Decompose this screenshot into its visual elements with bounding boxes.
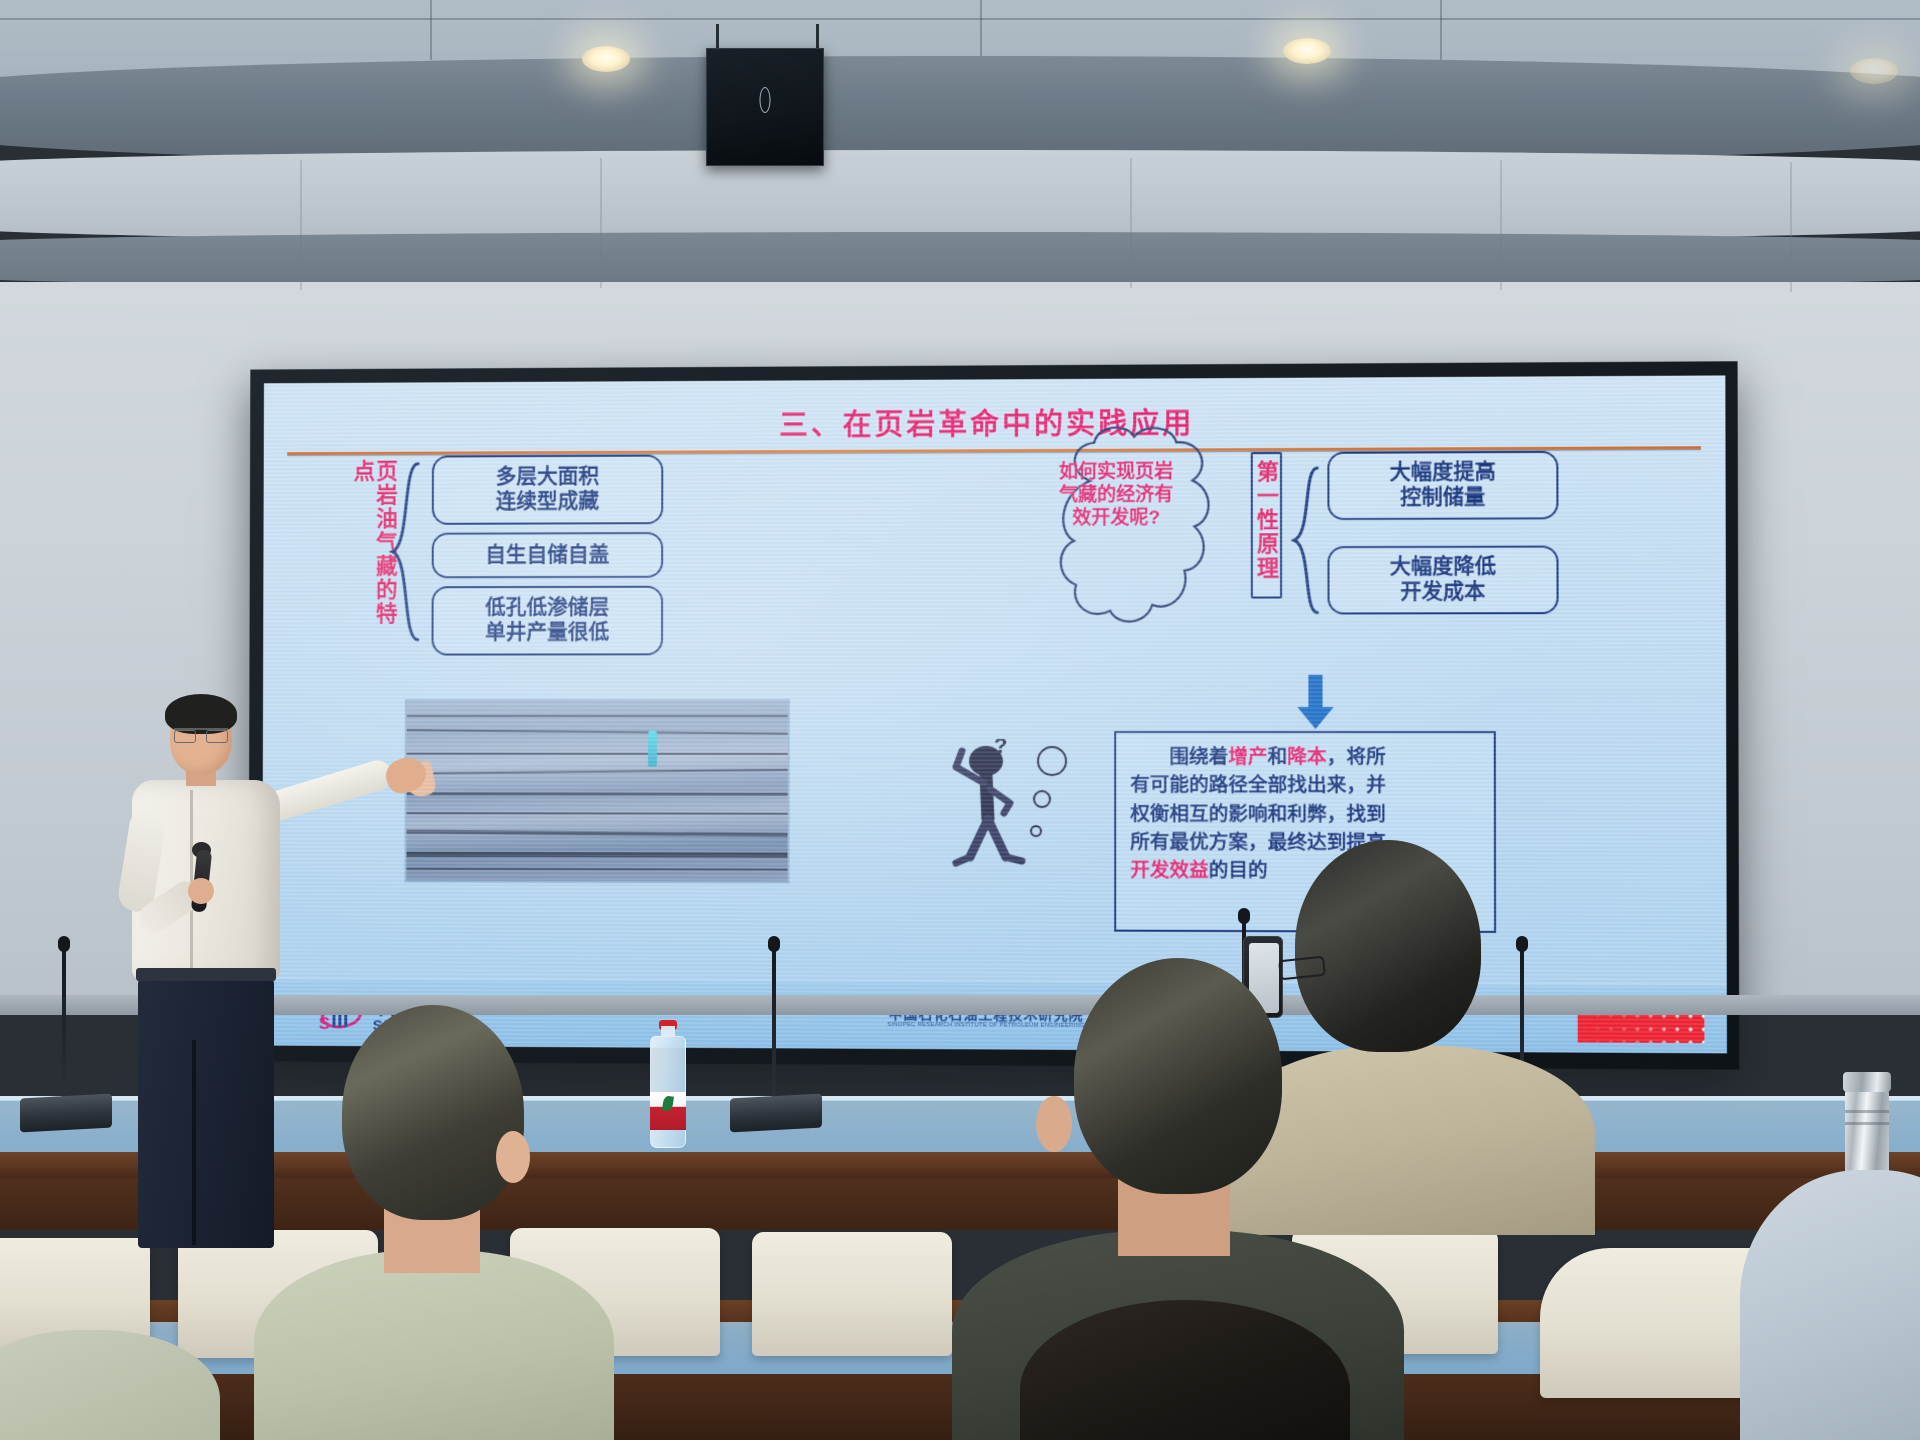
ear [496,1131,530,1183]
wall-seam [600,158,602,288]
presenter-leg-seam [192,1040,196,1245]
thought-cloud [1054,420,1230,676]
thought-cloud-text: 如何实现页岩气藏的经济有效开发呢? [1056,460,1176,530]
right-brace-icon [1291,464,1321,617]
presenter-glasses-icon [174,728,228,739]
presenter-mic-hand [188,878,214,904]
conclusion-line-2: 有可能的路径全部找出来，并 [1130,771,1481,800]
slide-title: 三、在页岩革命中的实践应用 [264,398,1726,447]
bedding-plane [404,769,789,775]
head [1074,958,1282,1194]
light-green-shirt [0,1330,220,1440]
mic-head [58,936,70,952]
chair [752,1232,952,1356]
flask-ring [1845,1110,1889,1113]
highlight-jiangben: 降本 [1287,746,1326,768]
presenter-belt [136,968,276,981]
scale-bottle [648,731,657,767]
water-bottle [650,1020,686,1148]
ceiling-seam [430,0,432,60]
c1c: ，将所 [1327,746,1386,768]
left-box-1-text: 多层大面积 连续型成藏 [496,465,599,514]
ear [1036,1096,1072,1152]
conclusion-line-1: 围绕着增产和降本，将所 [1130,743,1481,772]
left-box-2: 自生自储自盖 [432,532,664,578]
presenter-trousers [138,976,274,1248]
head [342,1005,524,1220]
right-vertical-label: 第一性原理 [1251,452,1282,599]
left-box-2-text: 自生自储自盖 [485,543,609,568]
ceiling-downlight [1850,58,1898,84]
right-box-1: 大幅度提高 控制储量 [1327,451,1558,520]
svg-text:?: ? [994,739,1007,758]
shale-outcrop-photo [404,699,789,884]
c1b: 和 [1268,746,1288,768]
ceiling-seam [980,0,982,60]
audience-member-far-right [1740,1130,1920,1440]
conference-room-photo: 三、在页岩革命中的实践应用 页岩油气藏的特点 多层大面积 连续型成藏 自生自储自… [0,0,1920,1440]
mic-stem [62,948,66,1098]
light-green-shirt [254,1250,614,1440]
bedding-plane [404,792,789,796]
bedding-plane [404,753,789,755]
highlight-kaifaxiaoyi: 开发效益 [1130,859,1208,881]
ceiling-speaker [706,48,824,166]
wall-upper-band [0,150,1920,242]
ceiling-seam [0,18,1920,20]
down-arrow-icon [1295,675,1335,729]
wall-seam [1500,160,1502,290]
right-box-1-text: 大幅度提高 控制储量 [1390,460,1496,510]
ceiling-downlight [582,46,630,72]
bedding-plane [404,812,789,815]
bedding-plane [404,829,789,837]
flask-ring [1845,1122,1889,1125]
head [1020,1300,1350,1440]
wall-seam [1130,158,1132,288]
mic-head [1238,908,1250,924]
left-brace-icon [388,460,422,644]
wall-dark-band [0,232,1920,288]
mic-base [20,1094,112,1133]
speaker-bracket [816,24,819,50]
audience-member-bottom-left [0,1330,190,1440]
c1a: 围绕着 [1169,746,1228,768]
audience-member-front-left [300,1005,560,1440]
right-box-2: 大幅度降低 开发成本 [1327,546,1558,615]
bedding-plane [404,852,789,858]
ceiling-downlight [1283,38,1331,64]
flask-cap [1843,1072,1891,1092]
bedding-plane [404,729,789,735]
left-box-3: 低孔低渗储层 单井产量很低 [432,586,664,656]
speaker-bracket [716,24,719,50]
mic-head [768,936,780,952]
left-box-1: 多层大面积 连续型成藏 [432,455,663,525]
bedding-plane [404,715,789,717]
light-blue-shirt [1740,1170,1920,1440]
wall-seam [1790,162,1792,292]
bedding-plane [404,868,789,871]
audience-member-bottom-center [1020,1300,1350,1440]
wall-seam [300,160,302,290]
mic-stem [772,948,776,1098]
thinking-stick-figure: ? [944,739,1124,890]
highlight-zengchan: 增产 [1228,746,1267,768]
left-box-3-text: 低孔低渗储层 单井产量很低 [485,596,609,645]
mic-base [730,1094,822,1133]
ceiling-seam [1440,0,1442,64]
right-box-2-text: 大幅度降低 开发成本 [1390,555,1496,605]
conclusion-line-3: 权衡相互的影响和利弊，找到 [1130,800,1481,829]
speaker-logo [760,87,771,113]
